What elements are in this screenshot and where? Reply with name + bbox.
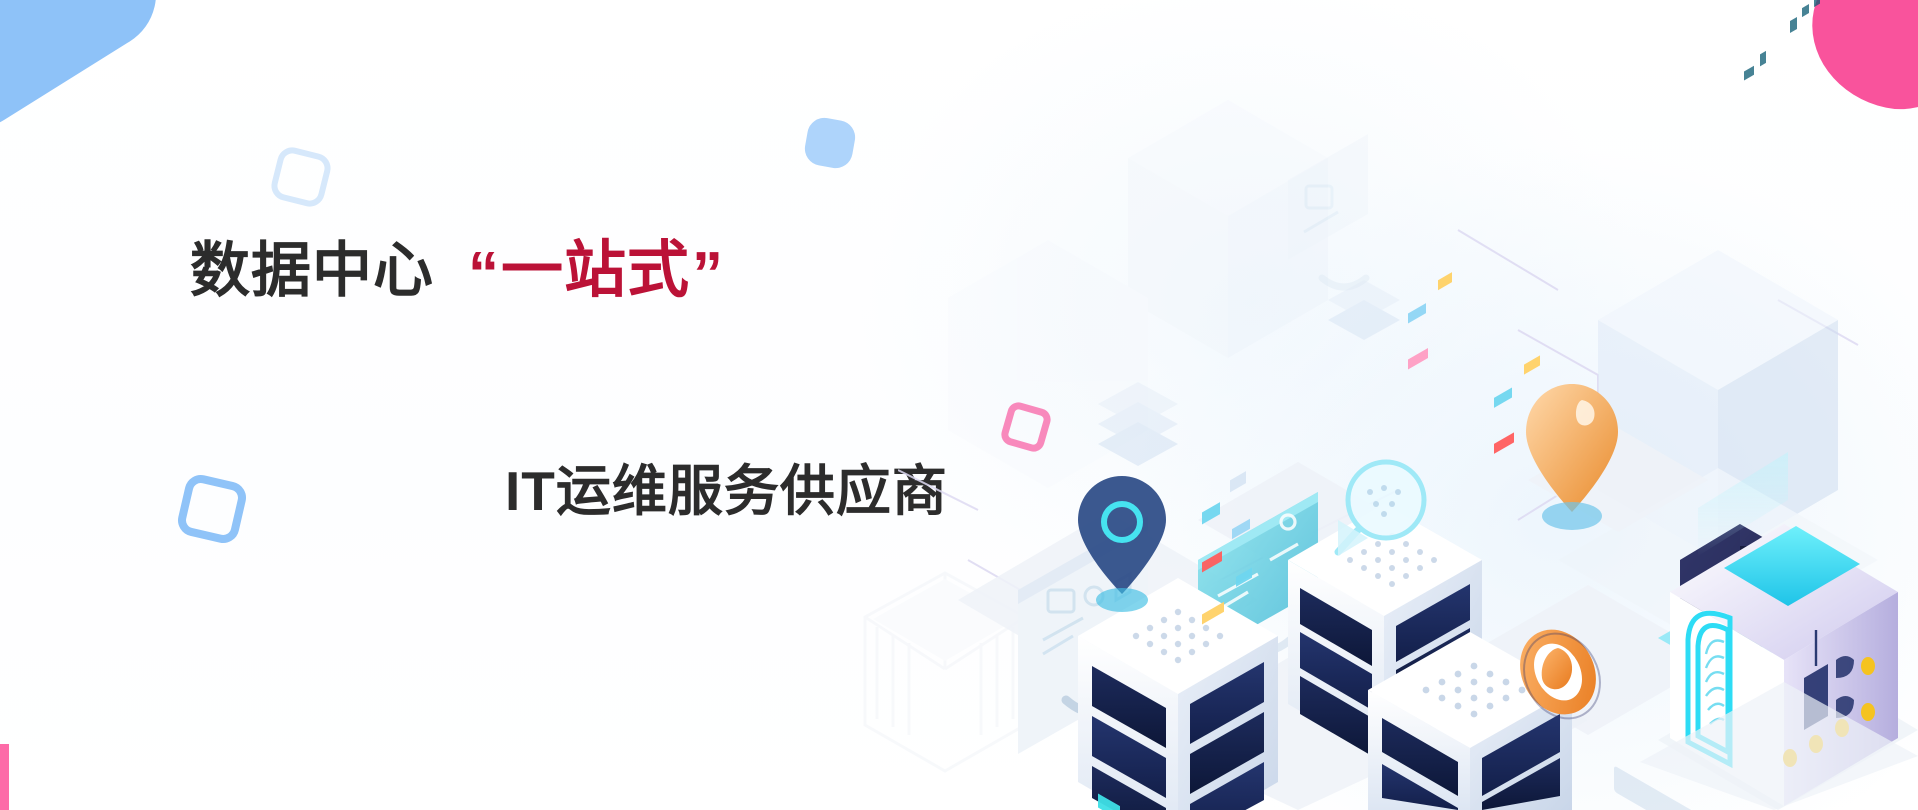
pink-bar-bottom-left-decoration — [0, 744, 9, 810]
isometric-datacenter-illustration — [898, 0, 1918, 810]
server-rack-front-left — [1078, 471, 1278, 810]
hero-banner: 数据中心 “ 一站式 ” IT运维服务供应商 — [0, 0, 1918, 810]
